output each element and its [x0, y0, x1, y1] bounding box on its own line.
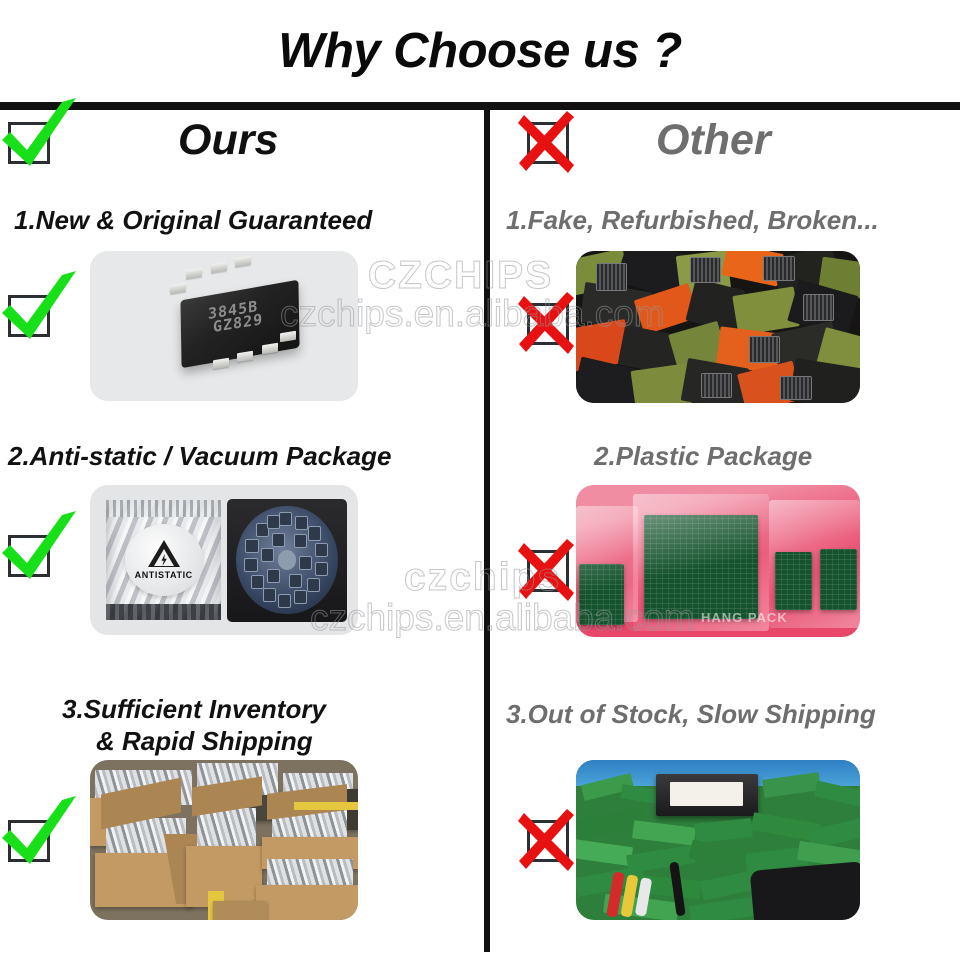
- cross-mark-icon-header: [527, 122, 569, 164]
- plastic-package-photo-scene: HANG PACK: [576, 485, 860, 637]
- reel-hub: [278, 550, 296, 569]
- ours-row-1-photo: 3845B GZ829: [90, 251, 358, 401]
- cross-mark-icon-row-2: [527, 550, 569, 592]
- ours-row-2-text: 2.Anti-static / Vacuum Package: [8, 442, 391, 472]
- warehouse-boxes-photo-scene: [90, 760, 358, 920]
- cross-mark-icon-row-3: [527, 820, 569, 862]
- scrap-pcb-heap-photo-scene: [576, 760, 860, 920]
- other-row-1-photo: [576, 251, 860, 403]
- ours-row-3-photo: [90, 760, 358, 920]
- other-row-3-text: 3.Out of Stock, Slow Shipping: [506, 700, 876, 730]
- ours-row-2-photo: ANTISTATIC: [90, 485, 358, 635]
- check-mark-icon-row-1: [8, 295, 50, 337]
- chip-photo-scene: 3845B GZ829: [90, 251, 358, 401]
- page-title: Why Choose us ?: [278, 23, 682, 79]
- scrap-chips-photo-scene: [576, 251, 860, 403]
- ours-row-3-text-line-2: & Rapid Shipping: [96, 727, 313, 757]
- component-reel: [227, 499, 348, 622]
- check-mark-icon-header: [8, 122, 50, 164]
- infographic-page: Why Choose us ? Ours 1.New & Original Gu…: [0, 0, 960, 960]
- antistatic-photo-scene: ANTISTATIC: [90, 485, 358, 635]
- column-ours-header: Ours: [0, 110, 484, 192]
- antistatic-label-disc: ANTISTATIC: [125, 524, 203, 596]
- other-row-2-photo: HANG PACK: [576, 485, 860, 637]
- check-mark-icon-row-3: [8, 820, 50, 862]
- check-mark-icon-row-2: [8, 535, 50, 577]
- column-other: Other 1.Fake, Refurbished, Broken...: [490, 110, 960, 960]
- antistatic-label-text: ANTISTATIC: [135, 570, 193, 580]
- ours-row-3-text-line-1: 3.Sufficient Inventory: [62, 695, 326, 725]
- header-divider-line: [0, 102, 960, 110]
- column-other-title: Other: [656, 116, 771, 165]
- column-ours-title: Ours: [178, 116, 278, 165]
- other-row-1-text: 1.Fake, Refurbished, Broken...: [506, 206, 879, 236]
- pack-watermark-text: HANG PACK: [701, 610, 788, 625]
- column-other-header: Other: [490, 110, 960, 192]
- page-header: Why Choose us ?: [0, 0, 960, 102]
- antistatic-bag: ANTISTATIC: [106, 500, 221, 620]
- column-ours: Ours 1.New & Original Guaranteed 3845B G…: [0, 110, 484, 960]
- ours-row-1-text: 1.New & Original Guaranteed: [14, 206, 372, 236]
- reel-inner: [236, 506, 337, 614]
- other-row-2-text: 2.Plastic Package: [594, 442, 812, 472]
- esd-warning-triangle-icon: [148, 540, 180, 567]
- module-label: [670, 782, 744, 806]
- cross-mark-icon-row-1: [527, 303, 569, 345]
- black-module: [656, 774, 758, 816]
- lightning-bolt-icon: [161, 554, 168, 566]
- other-row-3-photo: [576, 760, 860, 920]
